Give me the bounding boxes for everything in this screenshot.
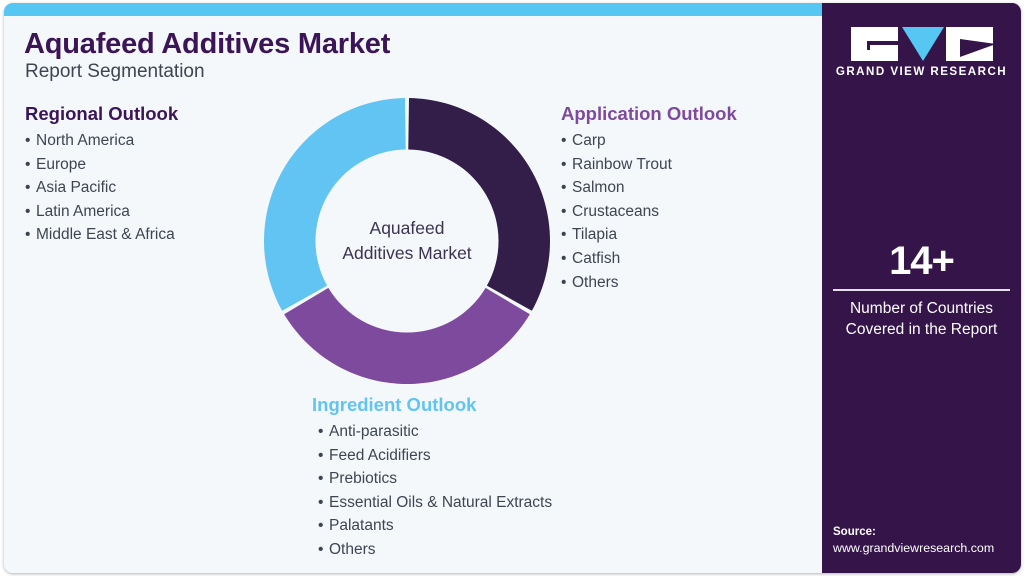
regional-outlook-list: •North America •Europe •Asia Pacific •La… — [25, 129, 178, 247]
bullet-icon: • — [318, 467, 329, 491]
logo-g-stem — [867, 41, 870, 50]
bullet-icon: • — [25, 176, 36, 200]
list-item-label: Palatants — [329, 517, 394, 534]
list-item: •Tilapia — [561, 223, 737, 247]
stat-label: Number of Countries Covered in the Repor… — [822, 298, 1021, 340]
bullet-icon: • — [561, 223, 572, 247]
donut-segment — [408, 98, 550, 311]
infographic-card: Aquafeed Additives Market Report Segment… — [4, 3, 1021, 573]
list-item-label: Feed Acidifiers — [329, 447, 431, 464]
page-subtitle: Report Segmentation — [25, 61, 205, 83]
bullet-icon: • — [25, 223, 36, 247]
list-item-label: Others — [329, 541, 376, 558]
list-item: •Carp — [561, 129, 737, 153]
regional-outlook-block: Regional Outlook •North America •Europe … — [25, 103, 178, 247]
logo-letter-v-icon — [902, 27, 944, 61]
list-item: •Feed Acidifiers — [318, 444, 552, 468]
list-item: •Palatants — [318, 514, 552, 538]
logo-g-notch — [867, 41, 901, 45]
list-item-label: Europe — [36, 156, 86, 173]
list-item-label: Anti-parasitic — [329, 423, 419, 440]
list-item: •Salmon — [561, 176, 737, 200]
stat-label-line1: Number of Countries — [822, 298, 1021, 319]
brand-sidebar: GRAND VIEW RESEARCH 14+ Number of Countr… — [822, 3, 1021, 573]
bullet-icon: • — [561, 153, 572, 177]
list-item-label: Catfish — [572, 250, 620, 267]
list-item: •Latin America — [25, 200, 178, 224]
list-item-label: North America — [36, 132, 134, 149]
list-item-label: Middle East & Africa — [36, 226, 175, 243]
gvr-logo: GRAND VIEW RESEARCH — [822, 27, 1021, 83]
list-item-label: Others — [572, 274, 619, 291]
list-item: •Prebiotics — [318, 467, 552, 491]
stat-value: 14+ — [822, 239, 1021, 283]
page-title: Aquafeed Additives Market — [24, 28, 390, 61]
list-item: •Europe — [25, 153, 178, 177]
application-outlook-list: •Carp •Rainbow Trout •Salmon •Crustacean… — [561, 129, 737, 294]
logo-letter-g-icon — [851, 27, 898, 61]
list-item: •Others — [561, 271, 737, 295]
list-item: •Rainbow Trout — [561, 153, 737, 177]
bullet-icon: • — [561, 247, 572, 271]
logo-letter-r-icon — [946, 27, 993, 61]
bullet-icon: • — [561, 129, 572, 153]
countries-stat: 14+ Number of Countries Covered in the R… — [822, 239, 1021, 340]
application-outlook-block: Application Outlook •Carp •Rainbow Trout… — [561, 103, 737, 294]
bullet-icon: • — [318, 491, 329, 515]
list-item: •Asia Pacific — [25, 176, 178, 200]
list-item-label: Salmon — [572, 179, 625, 196]
ingredient-outlook-block: Ingredient Outlook •Anti-parasitic •Feed… — [312, 394, 552, 562]
main-panel: Aquafeed Additives Market Report Segment… — [4, 16, 822, 573]
stat-divider — [833, 289, 1010, 291]
bullet-icon: • — [25, 153, 36, 177]
list-item: •Anti-parasitic — [318, 420, 552, 444]
ingredient-outlook-heading: Ingredient Outlook — [312, 394, 552, 416]
logo-r-wedge — [960, 39, 996, 57]
list-item-label: Crustaceans — [572, 203, 659, 220]
bullet-icon: • — [318, 514, 329, 538]
infographic-root: Aquafeed Additives Market Report Segment… — [0, 0, 1025, 576]
donut-svg — [262, 96, 552, 386]
list-item-label: Prebiotics — [329, 470, 397, 487]
bullet-icon: • — [561, 271, 572, 295]
bullet-icon: • — [561, 200, 572, 224]
source-block: Source: www.grandviewresearch.com — [833, 524, 1021, 557]
list-item: •Catfish — [561, 247, 737, 271]
list-item-label: Essential Oils & Natural Extracts — [329, 494, 552, 511]
bullet-icon: • — [318, 538, 329, 562]
bullet-icon: • — [318, 420, 329, 444]
top-accent-stripe — [4, 3, 822, 16]
segmentation-donut-chart: Aquafeed Additives Market — [262, 96, 552, 386]
list-item: •Middle East & Africa — [25, 223, 178, 247]
regional-outlook-heading: Regional Outlook — [25, 103, 178, 125]
bullet-icon: • — [25, 200, 36, 224]
list-item-label: Rainbow Trout — [572, 156, 672, 173]
bullet-icon: • — [318, 444, 329, 468]
list-item-label: Carp — [572, 132, 606, 149]
list-item: •Others — [318, 538, 552, 562]
list-item-label: Tilapia — [572, 226, 617, 243]
source-label: Source: — [833, 524, 1021, 540]
list-item: •Crustaceans — [561, 200, 737, 224]
logo-wordmark: GRAND VIEW RESEARCH — [822, 65, 1021, 78]
bullet-icon: • — [25, 129, 36, 153]
donut-segment — [264, 98, 406, 311]
list-item-label: Latin America — [36, 203, 130, 220]
logo-marks — [847, 27, 997, 61]
source-url[interactable]: www.grandviewresearch.com — [833, 540, 1021, 557]
ingredient-outlook-list: •Anti-parasitic •Feed Acidifiers •Prebio… — [318, 420, 552, 562]
stat-label-line2: Covered in the Report — [822, 319, 1021, 340]
list-item: •Essential Oils & Natural Extracts — [318, 491, 552, 515]
application-outlook-heading: Application Outlook — [561, 103, 737, 125]
donut-segment — [284, 288, 530, 384]
bullet-icon: • — [561, 176, 572, 200]
list-item-label: Asia Pacific — [36, 179, 116, 196]
list-item: •North America — [25, 129, 178, 153]
